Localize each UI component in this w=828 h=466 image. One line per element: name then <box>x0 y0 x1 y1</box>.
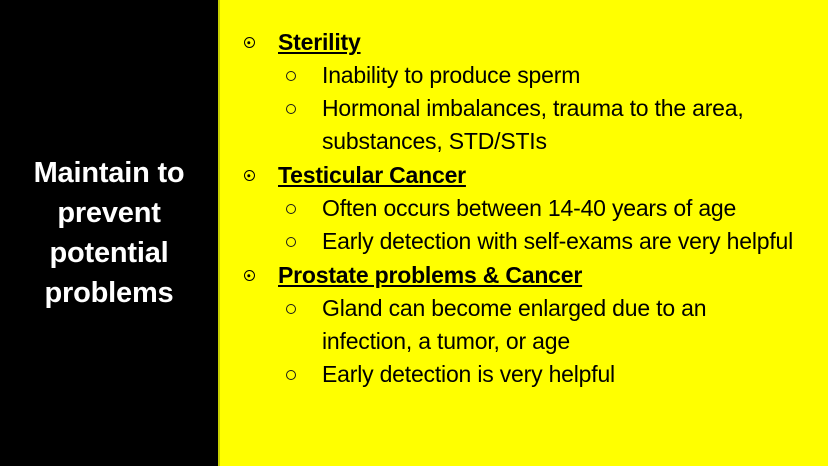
bullet-text: Gland can become enlarged due to an infe… <box>322 292 802 358</box>
hollow-circle-bullet-glyph <box>286 237 296 247</box>
bullet-text: Early detection with self-exams are very… <box>322 225 802 258</box>
bullet-text: Early detection is very helpful <box>322 358 802 391</box>
bullet-item-level2: Hormonal imbalances, trauma to the area,… <box>278 92 810 158</box>
bullet-heading: Testicular Cancer <box>278 162 466 188</box>
hollow-circle-bullet-glyph <box>286 304 296 314</box>
circle-dot-bullet-glyph <box>244 37 255 48</box>
bullet-text: Hormonal imbalances, trauma to the area,… <box>322 92 802 158</box>
bullet-item-level2: Early detection with self-exams are very… <box>278 225 810 258</box>
bullet-item-level2: Early detection is very helpful <box>278 358 810 391</box>
page-title: Maintain to prevent potential problems <box>10 153 208 313</box>
bullet-heading: Sterility <box>278 29 361 55</box>
bullet-item-level2: Gland can become enlarged due to an infe… <box>278 292 810 358</box>
hollow-circle-bullet-glyph <box>286 204 296 214</box>
sub-bullet-list: Inability to produce spermHormonal imbal… <box>278 59 810 158</box>
hollow-circle-bullet-glyph <box>286 71 296 81</box>
sub-bullet-list: Often occurs between 14-40 years of ageE… <box>278 192 810 258</box>
circle-dot-bullet-icon <box>240 26 258 59</box>
bullet-item-level2: Inability to produce sperm <box>278 59 810 92</box>
bullet-item-level1: SterilityInability to produce spermHormo… <box>232 26 810 158</box>
bullet-item-level1: Prostate problems & CancerGland can beco… <box>232 259 810 391</box>
bullet-item-level2: Often occurs between 14-40 years of age <box>278 192 810 225</box>
sub-bullet-list: Gland can become enlarged due to an infe… <box>278 292 810 391</box>
circle-dot-bullet-icon <box>240 159 258 192</box>
bullet-text: Inability to produce sperm <box>322 59 802 92</box>
hollow-circle-bullet-glyph <box>286 104 296 114</box>
hollow-circle-bullet-icon <box>282 92 300 125</box>
hollow-circle-bullet-icon <box>282 358 300 391</box>
hollow-circle-bullet-icon <box>282 192 300 225</box>
circle-dot-bullet-glyph <box>244 270 255 281</box>
hollow-circle-bullet-icon <box>282 292 300 325</box>
circle-dot-bullet-glyph <box>244 170 255 181</box>
left-title-panel: Maintain to prevent potential problems <box>0 0 218 466</box>
hollow-circle-bullet-icon <box>282 225 300 258</box>
hollow-circle-bullet-glyph <box>286 370 296 380</box>
slide-canvas: Maintain to prevent potential problems S… <box>0 0 828 466</box>
bullet-list: SterilityInability to produce spermHormo… <box>232 26 810 391</box>
bullet-item-level1: Testicular CancerOften occurs between 14… <box>232 159 810 258</box>
hollow-circle-bullet-icon <box>282 59 300 92</box>
bullet-text: Often occurs between 14-40 years of age <box>322 192 802 225</box>
content-panel: SterilityInability to produce spermHormo… <box>220 0 828 466</box>
circle-dot-bullet-icon <box>240 259 258 292</box>
bullet-heading: Prostate problems & Cancer <box>278 262 582 288</box>
